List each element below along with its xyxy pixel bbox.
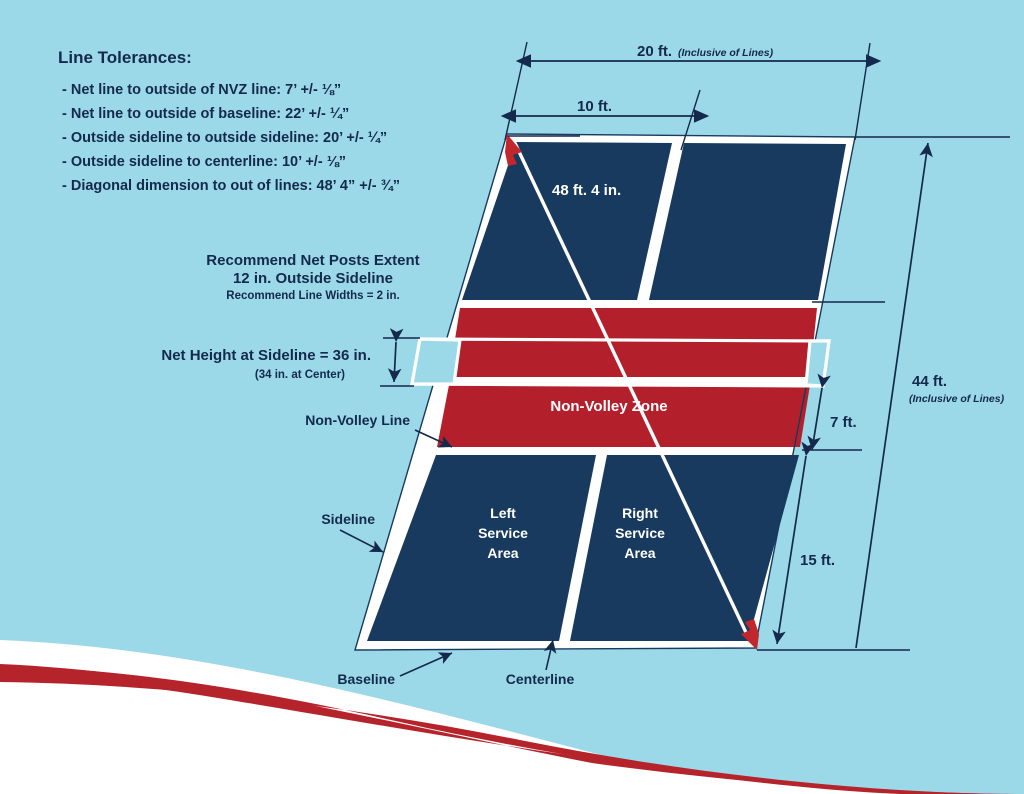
dimension-15ft-label: 15 ft. (800, 552, 835, 569)
net-posts-note-line2: 12 in. Outside Sideline (233, 270, 393, 287)
court-diagram-svg: 20 ft. (Inclusive of Lines) 10 ft. 7 ft.… (0, 0, 1024, 794)
label-right-service-line1: Right (622, 505, 658, 521)
callout-non-volley-line: Non-Volley Line (305, 412, 410, 428)
dimension-20ft-note: (Inclusive of Lines) (678, 47, 774, 59)
dimension-20ft-label: 20 ft. (637, 43, 672, 60)
dimension-44ft-note: (Inclusive of Lines) (909, 393, 1005, 405)
net-height-sub-note: (34 in. at Center) (255, 369, 345, 381)
callout-baseline: Baseline (337, 671, 395, 687)
callout-sideline: Sideline (321, 511, 375, 527)
net-left-post-panel (412, 339, 460, 384)
line-widths-note: Recommend Line Widths = 2 in. (226, 290, 399, 302)
label-left-service-line1: Left (490, 505, 516, 521)
label-diagonal-dimension: 48 ft. 4 in. (552, 182, 621, 199)
pickleball-court-diagram: 20 ft. (Inclusive of Lines) 10 ft. 7 ft.… (0, 0, 1024, 794)
non-volley-zone-far (449, 308, 817, 377)
non-volley-zone-near (437, 385, 810, 447)
dimension-10ft-label: 10 ft. (577, 98, 612, 115)
tolerance-item-4: - Diagonal dimension to out of lines: 48… (62, 178, 400, 194)
label-left-service-line2: Service (478, 525, 528, 541)
net-height-main-note: Net Height at Sideline = 36 in. (161, 347, 371, 364)
tolerance-item-1: - Net line to outside of baseline: 22’ +… (62, 106, 349, 122)
tolerance-item-0: - Net line to outside of NVZ line: 7’ +/… (62, 82, 341, 98)
net-posts-note-line1: Recommend Net Posts Extent (206, 252, 419, 269)
label-right-service-line3: Area (624, 545, 655, 561)
line-tolerances-title: Line Tolerances: (58, 48, 192, 67)
tolerance-item-2: - Outside sideline to outside sideline: … (62, 130, 387, 146)
label-left-service-line3: Area (487, 545, 518, 561)
label-right-service-line2: Service (615, 525, 665, 541)
dimension-7ft-label: 7 ft. (830, 414, 857, 431)
dimension-44ft-label: 44 ft. (912, 373, 947, 390)
callout-centerline: Centerline (506, 671, 575, 687)
label-non-volley-zone: Non-Volley Zone (550, 398, 667, 415)
tolerance-item-3: - Outside sideline to centerline: 10’ +/… (62, 154, 346, 170)
